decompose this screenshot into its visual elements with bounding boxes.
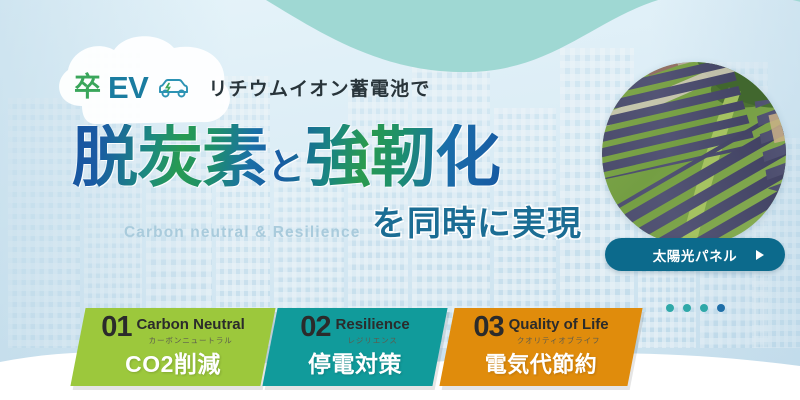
play-triangle-icon xyxy=(756,250,764,260)
aerial-solar-farm-photo xyxy=(602,62,786,246)
feature-cards: 01 Carbon Neutral カーボンニュートラル CO2削減 02 Re… xyxy=(0,308,800,394)
headline-secondary: を同時に実現 xyxy=(372,196,582,245)
ev-label: EV xyxy=(108,72,148,103)
cta-label: 太陽光パネル xyxy=(653,245,738,265)
card-number: 02 xyxy=(300,314,330,342)
card-title-jp: 停電対策 xyxy=(270,345,440,379)
electric-car-icon xyxy=(157,78,191,98)
hero-banner: 卒 EV リチウムイオン蓄電池で 脱炭素と強靭化 を同時に実現 Carbon n… xyxy=(0,0,800,400)
solar-panel-cta-button[interactable]: 太陽光パネル xyxy=(605,238,785,271)
feature-card-resilience[interactable]: 02 Resilience レジリエンス 停電対策 xyxy=(262,308,447,386)
subtitle-english: Carbon neutral & Resilience xyxy=(124,224,360,242)
lead-text: リチウムイオン蓄電池で xyxy=(208,74,430,101)
card-title-en: Carbon Neutral xyxy=(136,317,244,332)
card-title-jp: 電気代節約 xyxy=(447,347,635,379)
headline-conjunction: と xyxy=(267,147,305,189)
headline-part-2: 強靭化 xyxy=(305,120,500,194)
card-title-en: Resilience xyxy=(336,317,410,332)
card-number: 03 xyxy=(473,314,503,342)
card-title-en: Quality of Life xyxy=(509,317,609,332)
solar-farm-illustration xyxy=(602,62,786,246)
graduate-kanji: 卒 xyxy=(74,74,100,101)
headline-part-1: 脱炭素 xyxy=(72,120,267,194)
card-title-kana: クオリティオブライフ xyxy=(517,335,601,346)
brand-logo-row: 卒 EV リチウムイオン蓄電池で xyxy=(74,72,431,103)
card-title-jp: CO2削減 xyxy=(78,345,268,379)
feature-card-quality-of-life[interactable]: 03 Quality of Life クオリティオブライフ 電気代節約 xyxy=(439,308,642,386)
feature-card-carbon-neutral[interactable]: 01 Carbon Neutral カーボンニュートラル CO2削減 xyxy=(70,308,275,386)
card-number: 01 xyxy=(101,314,131,342)
headline-primary: 脱炭素と強靭化 xyxy=(72,124,500,190)
